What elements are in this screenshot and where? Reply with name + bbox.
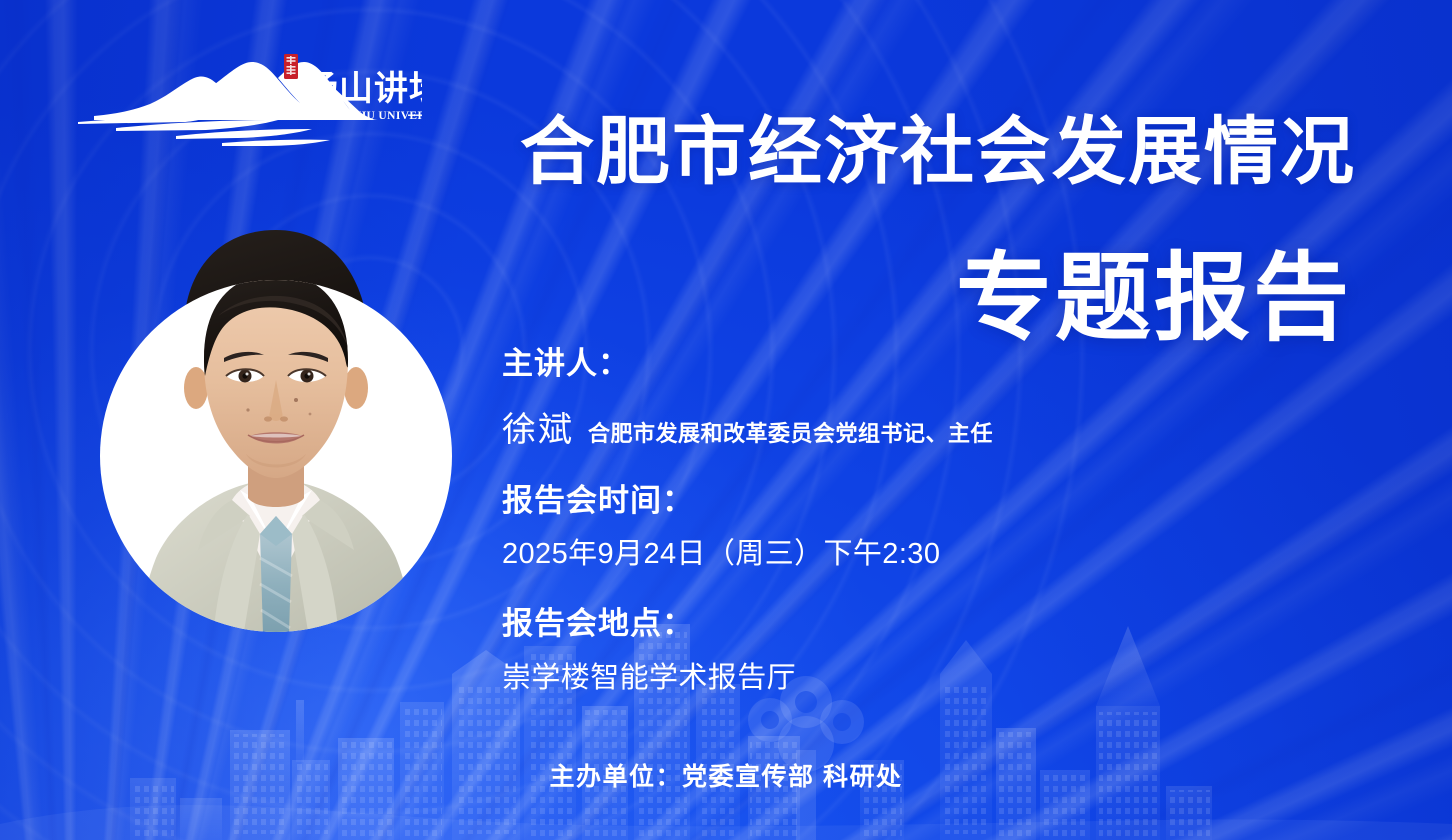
time-value: 2025年9月24日（周三）下午2:30: [502, 536, 1262, 574]
wave-icon: [78, 116, 330, 146]
page-subtitle: 专题报告: [956, 248, 1352, 350]
page-title: 合肥市经济社会发展情况: [520, 112, 1356, 192]
speaker-label: 主讲人：: [502, 344, 1262, 384]
organizer-footer: 主办单位：党委宣传部 科研处: [0, 757, 1452, 793]
speaker-name: 徐斌: [502, 402, 574, 451]
organizer-text: 主办单位：党委宣传部 科研处: [550, 757, 903, 793]
speaker-job-title: 合肥市发展和改革委员会党组书记、主任: [588, 416, 993, 448]
place-value: 崇学楼智能学术报告厅: [502, 660, 1262, 698]
speaker-portrait: [100, 228, 452, 668]
lecture-series-logo: 汤山讲坛 CHAOHU UNIVERSITY: [72, 52, 422, 148]
place-label: 报告会地点：: [502, 604, 1262, 644]
logo-english-name: CHAOHU UNIVERSITY: [321, 110, 422, 122]
speaker-portrait-photo: [100, 228, 452, 668]
poster-canvas: 汤山讲坛 CHAOHU UNIVERSITY: [0, 0, 1452, 840]
seal-icon: [284, 54, 298, 79]
speaker-row: 徐斌 合肥市发展和改革委员会党组书记、主任: [502, 402, 1262, 451]
event-details: 主讲人： 徐斌 合肥市发展和改革委员会党组书记、主任 报告会时间： 2025年9…: [502, 344, 1262, 697]
logo-series-name: 汤山讲坛: [304, 70, 422, 108]
time-label: 报告会时间：: [502, 481, 1262, 521]
